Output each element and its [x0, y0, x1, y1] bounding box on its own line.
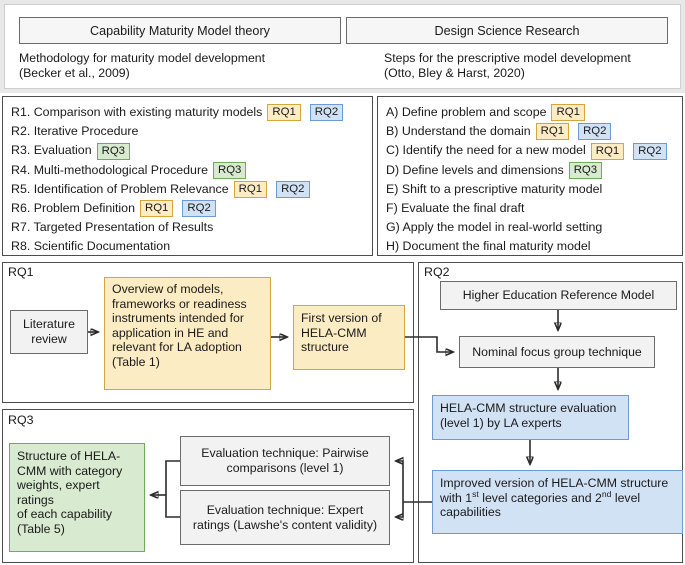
node-overview-of-models: Overview of models, frameworks or readin…: [104, 277, 271, 390]
node-evaluation-pairwise: Evaluation technique: Pairwise compariso…: [180, 436, 390, 486]
list-item: A) Define problem and scopeRQ1: [386, 103, 674, 122]
list-item: R2. Iterative Procedure: [11, 122, 364, 141]
badge-rq3: RQ3: [569, 162, 602, 179]
list-item-label: R1. Comparison with existing maturity mo…: [11, 105, 262, 119]
node-improved-version: Improved version of HELA-CMM structure w…: [432, 470, 683, 534]
improved-version-text-2: level categories and 2: [479, 491, 602, 505]
node-first-version-hela-cmm: First version of HELA-CMM structure: [293, 305, 405, 370]
badge-rq1: RQ1: [551, 104, 584, 121]
list-item: R1. Comparison with existing maturity mo…: [11, 103, 364, 122]
header-subtitle-right: Steps for the prescriptive model develop…: [384, 51, 684, 81]
requirements-panel-left: R1. Comparison with existing maturity mo…: [2, 96, 373, 256]
list-item-label: E) Shift to a prescriptive maturity mode…: [386, 182, 602, 196]
list-item: B) Understand the domainRQ1RQ2: [386, 122, 674, 141]
badge-rq2: RQ2: [276, 181, 309, 198]
node-structure-hela-cmm-result: Structure of HELA- CMM with category wei…: [9, 443, 145, 552]
list-item: R7. Targeted Presentation of Results: [11, 218, 364, 237]
badge-rq2: RQ2: [182, 200, 215, 217]
list-item-label: R2. Iterative Procedure: [11, 124, 138, 138]
improved-version-sup-2: nd: [602, 489, 612, 499]
list-item: G) Apply the model in real-world setting: [386, 218, 674, 237]
badge-rq1: RQ1: [591, 143, 624, 160]
list-item-label: G) Apply the model in real-world setting: [386, 220, 602, 234]
requirements-panel-right: A) Define problem and scopeRQ1B) Underst…: [377, 96, 683, 256]
theory-header-section: Capability Maturity Model theory Design …: [0, 0, 685, 93]
improved-version-sup-1: st: [472, 489, 479, 499]
header-title-right: Design Science Research: [435, 24, 580, 38]
header-box-design-science: Design Science Research: [346, 17, 668, 44]
badge-rq3: RQ3: [97, 143, 130, 160]
diagram-root: Capability Maturity Model theory Design …: [0, 0, 685, 565]
requirements-list-left: R1. Comparison with existing maturity mo…: [11, 103, 364, 257]
list-item: F) Evaluate the final draft: [386, 199, 674, 218]
theory-header-inner: Capability Maturity Model theory Design …: [4, 4, 681, 89]
badge-rq1: RQ1: [536, 123, 569, 140]
list-item-label: A) Define problem and scope: [386, 105, 546, 119]
list-item-label: R7. Targeted Presentation of Results: [11, 220, 213, 234]
rq1-panel-label: RQ1: [8, 265, 33, 279]
node-nominal-focus-group: Nominal focus group technique: [459, 336, 655, 368]
node-structure-evaluation: HELA-CMM structure evaluation (level 1) …: [432, 395, 629, 440]
list-item-label: B) Understand the domain: [386, 124, 531, 138]
list-item-label: R3. Evaluation: [11, 143, 92, 157]
badge-rq1: RQ1: [267, 104, 300, 121]
badge-rq2: RQ2: [578, 123, 611, 140]
list-item: R4. Multi-methodological ProcedureRQ3: [11, 161, 364, 180]
badge-rq2: RQ2: [310, 104, 343, 121]
list-item-label: D) Define levels and dimensions: [386, 163, 564, 177]
requirements-list-right: A) Define problem and scopeRQ1B) Underst…: [386, 103, 674, 257]
header-subtitle-left: Methodology for maturity model developme…: [19, 51, 349, 81]
rq2-panel-label: RQ2: [424, 265, 449, 279]
badge-rq1: RQ1: [140, 200, 173, 217]
header-box-cmm-theory: Capability Maturity Model theory: [19, 17, 341, 44]
list-item-label: C) Identify the need for a new model: [386, 143, 586, 157]
list-item: H) Document the final maturity model: [386, 237, 674, 256]
list-item: R8. Scientific Documentation: [11, 237, 364, 256]
list-item: R6. Problem DefinitionRQ1RQ2: [11, 199, 364, 218]
list-item-label: R6. Problem Definition: [11, 201, 135, 215]
list-item-label: H) Document the final maturity model: [386, 239, 591, 253]
badge-rq2: RQ2: [633, 143, 666, 160]
node-he-reference-model: Higher Education Reference Model: [440, 281, 677, 310]
rq3-panel-label: RQ3: [8, 413, 33, 427]
list-item: E) Shift to a prescriptive maturity mode…: [386, 180, 674, 199]
header-title-left: Capability Maturity Model theory: [90, 24, 270, 38]
list-item-label: F) Evaluate the final draft: [386, 201, 524, 215]
node-evaluation-expert-ratings: Evaluation technique: Expert ratings (La…: [180, 490, 390, 545]
list-item-label: R5. Identification of Problem Relevance: [11, 182, 229, 196]
list-item: D) Define levels and dimensionsRQ3: [386, 161, 674, 180]
badge-rq3: RQ3: [213, 162, 246, 179]
list-item-label: R8. Scientific Documentation: [11, 239, 170, 253]
list-item: R3. EvaluationRQ3: [11, 141, 364, 160]
list-item-label: R4. Multi-methodological Procedure: [11, 163, 208, 177]
list-item: C) Identify the need for a new modelRQ1R…: [386, 141, 674, 160]
list-item: R5. Identification of Problem RelevanceR…: [11, 180, 364, 199]
node-literature-review: Literature review: [10, 310, 88, 354]
badge-rq1: RQ1: [234, 181, 267, 198]
